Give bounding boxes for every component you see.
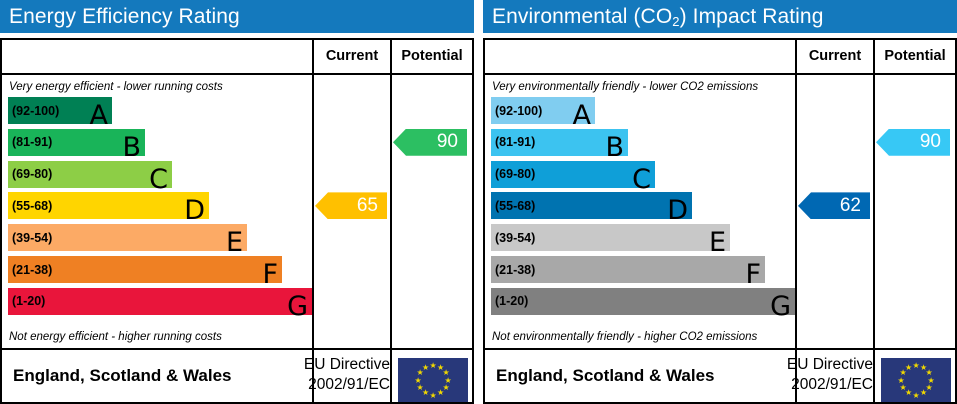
band-range-label: (92-100) bbox=[491, 104, 542, 118]
band-letter-label: C bbox=[149, 166, 168, 193]
band-c: (69-80)C bbox=[491, 161, 655, 188]
epc-chart-energy-efficiency: Energy Efficiency RatingCurrentPotential… bbox=[0, 0, 474, 404]
chart-footer: England, Scotland & WalesEU Directive200… bbox=[2, 350, 472, 402]
potential-rating-value: 90 bbox=[920, 131, 941, 153]
eu-flag-star: ★ bbox=[437, 389, 444, 396]
band-range-label: (69-80) bbox=[8, 167, 52, 181]
eu-flag-star: ★ bbox=[925, 369, 932, 376]
band-d: (55-68)D bbox=[491, 192, 692, 219]
band-f: (21-38)F bbox=[8, 256, 282, 283]
band-range-label: (81-91) bbox=[8, 135, 52, 149]
eu-flag-star: ★ bbox=[913, 362, 920, 369]
footer-directive-line1: EU Directive bbox=[763, 355, 873, 375]
footer-region-label: England, Scotland & Wales bbox=[2, 366, 232, 386]
footer-region-label: England, Scotland & Wales bbox=[485, 366, 715, 386]
eu-flag-star: ★ bbox=[920, 389, 927, 396]
band-d: (55-68)D bbox=[8, 192, 209, 219]
eu-flag-star: ★ bbox=[430, 392, 437, 399]
band-letter-label: F bbox=[262, 261, 278, 288]
eu-flag-star: ★ bbox=[415, 377, 422, 384]
current-rating-value: 62 bbox=[840, 195, 861, 217]
chart-footer: England, Scotland & WalesEU Directive200… bbox=[485, 350, 955, 402]
eu-flag-star: ★ bbox=[905, 364, 912, 371]
band-range-label: (55-68) bbox=[8, 199, 52, 213]
band-range-label: (1-20) bbox=[8, 294, 45, 308]
current-rating-value: 65 bbox=[357, 195, 378, 217]
footer-directive-line2: 2002/91/EC bbox=[763, 375, 873, 395]
chart-title-subscript: 2 bbox=[672, 14, 679, 29]
band-letter-label: D bbox=[667, 197, 688, 224]
band-range-label: (1-20) bbox=[491, 294, 528, 308]
table-header-row: CurrentPotential bbox=[2, 40, 472, 75]
band-g: (1-20)G bbox=[8, 288, 312, 315]
band-letter-label: E bbox=[226, 229, 243, 256]
band-a: (92-100)A bbox=[8, 97, 112, 124]
eu-flag-star: ★ bbox=[442, 369, 449, 376]
eu-flag-icon: ★★★★★★★★★★★★ bbox=[398, 358, 468, 402]
potential-rating-arrow: 90 bbox=[393, 129, 467, 156]
eu-flag-star: ★ bbox=[913, 392, 920, 399]
eu-flag-star: ★ bbox=[422, 364, 429, 371]
caption-bottom: Not environmentally friendly - higher CO… bbox=[485, 328, 793, 346]
band-c: (69-80)C bbox=[8, 161, 172, 188]
band-e: (39-54)E bbox=[8, 224, 247, 251]
band-b: (81-91)B bbox=[8, 129, 145, 156]
column-header-current: Current bbox=[314, 40, 390, 73]
eu-flag-star: ★ bbox=[417, 384, 424, 391]
band-letter-label: B bbox=[605, 134, 624, 161]
potential-rating-value: 90 bbox=[437, 131, 458, 153]
band-letter-label: A bbox=[90, 102, 108, 129]
footer-directive: EU Directive2002/91/EC bbox=[763, 355, 873, 395]
table-header-row: CurrentPotential bbox=[485, 40, 955, 75]
band-letter-label: F bbox=[745, 261, 761, 288]
caption-bottom: Not energy efficient - higher running co… bbox=[2, 328, 310, 346]
band-f: (21-38)F bbox=[491, 256, 765, 283]
caption-top: Very energy efficient - lower running co… bbox=[2, 78, 310, 96]
band-range-label: (21-38) bbox=[491, 263, 535, 277]
band-range-label: (92-100) bbox=[8, 104, 59, 118]
chart-title: Environmental (CO2) Impact Rating bbox=[483, 0, 957, 33]
column-header-potential: Potential bbox=[392, 40, 472, 73]
band-letter-label: B bbox=[122, 134, 141, 161]
band-letter-label: D bbox=[184, 197, 205, 224]
band-list: (92-100)A(81-91)B(69-80)C(55-68)D(39-54)… bbox=[2, 97, 310, 328]
band-range-label: (55-68) bbox=[491, 199, 535, 213]
band-list: (92-100)A(81-91)B(69-80)C(55-68)D(39-54)… bbox=[485, 97, 793, 328]
band-g: (1-20)G bbox=[491, 288, 795, 315]
rating-table: CurrentPotentialVery environmentally fri… bbox=[483, 38, 957, 404]
band-letter-label: G bbox=[770, 293, 791, 320]
band-e: (39-54)E bbox=[491, 224, 730, 251]
chart-title-suffix: ) Impact Rating bbox=[680, 5, 824, 28]
band-range-label: (39-54) bbox=[491, 231, 535, 245]
band-letter-label: E bbox=[709, 229, 726, 256]
band-letter-label: A bbox=[573, 102, 591, 129]
rating-table: CurrentPotentialVery energy efficient - … bbox=[0, 38, 474, 404]
chart-title: Energy Efficiency Rating bbox=[0, 0, 474, 33]
column-header-potential: Potential bbox=[875, 40, 955, 73]
epc-chart-environmental-co2-impact: Environmental (CO2) Impact RatingCurrent… bbox=[483, 0, 957, 404]
eu-flag-star: ★ bbox=[898, 377, 905, 384]
footer-directive-line2: 2002/91/EC bbox=[280, 375, 390, 395]
band-range-label: (21-38) bbox=[8, 263, 52, 277]
eu-flag-star: ★ bbox=[900, 384, 907, 391]
current-rating-arrow: 65 bbox=[315, 192, 387, 219]
epc-charts-page: Energy Efficiency RatingCurrentPotential… bbox=[0, 0, 957, 404]
footer-directive-line1: EU Directive bbox=[280, 355, 390, 375]
column-header-current: Current bbox=[797, 40, 873, 73]
band-letter-label: C bbox=[632, 166, 651, 193]
footer-directive: EU Directive2002/91/EC bbox=[280, 355, 390, 395]
band-range-label: (39-54) bbox=[8, 231, 52, 245]
caption-top: Very environmentally friendly - lower CO… bbox=[485, 78, 793, 96]
band-a: (92-100)A bbox=[491, 97, 595, 124]
eu-flag-star: ★ bbox=[430, 362, 437, 369]
chart-title-prefix: Environmental (CO bbox=[492, 5, 672, 28]
band-letter-label: G bbox=[287, 293, 308, 320]
current-rating-arrow: 62 bbox=[798, 192, 870, 219]
band-b: (81-91)B bbox=[491, 129, 628, 156]
eu-flag-icon: ★★★★★★★★★★★★ bbox=[881, 358, 951, 402]
potential-rating-arrow: 90 bbox=[876, 129, 950, 156]
band-range-label: (69-80) bbox=[491, 167, 535, 181]
band-range-label: (81-91) bbox=[491, 135, 535, 149]
